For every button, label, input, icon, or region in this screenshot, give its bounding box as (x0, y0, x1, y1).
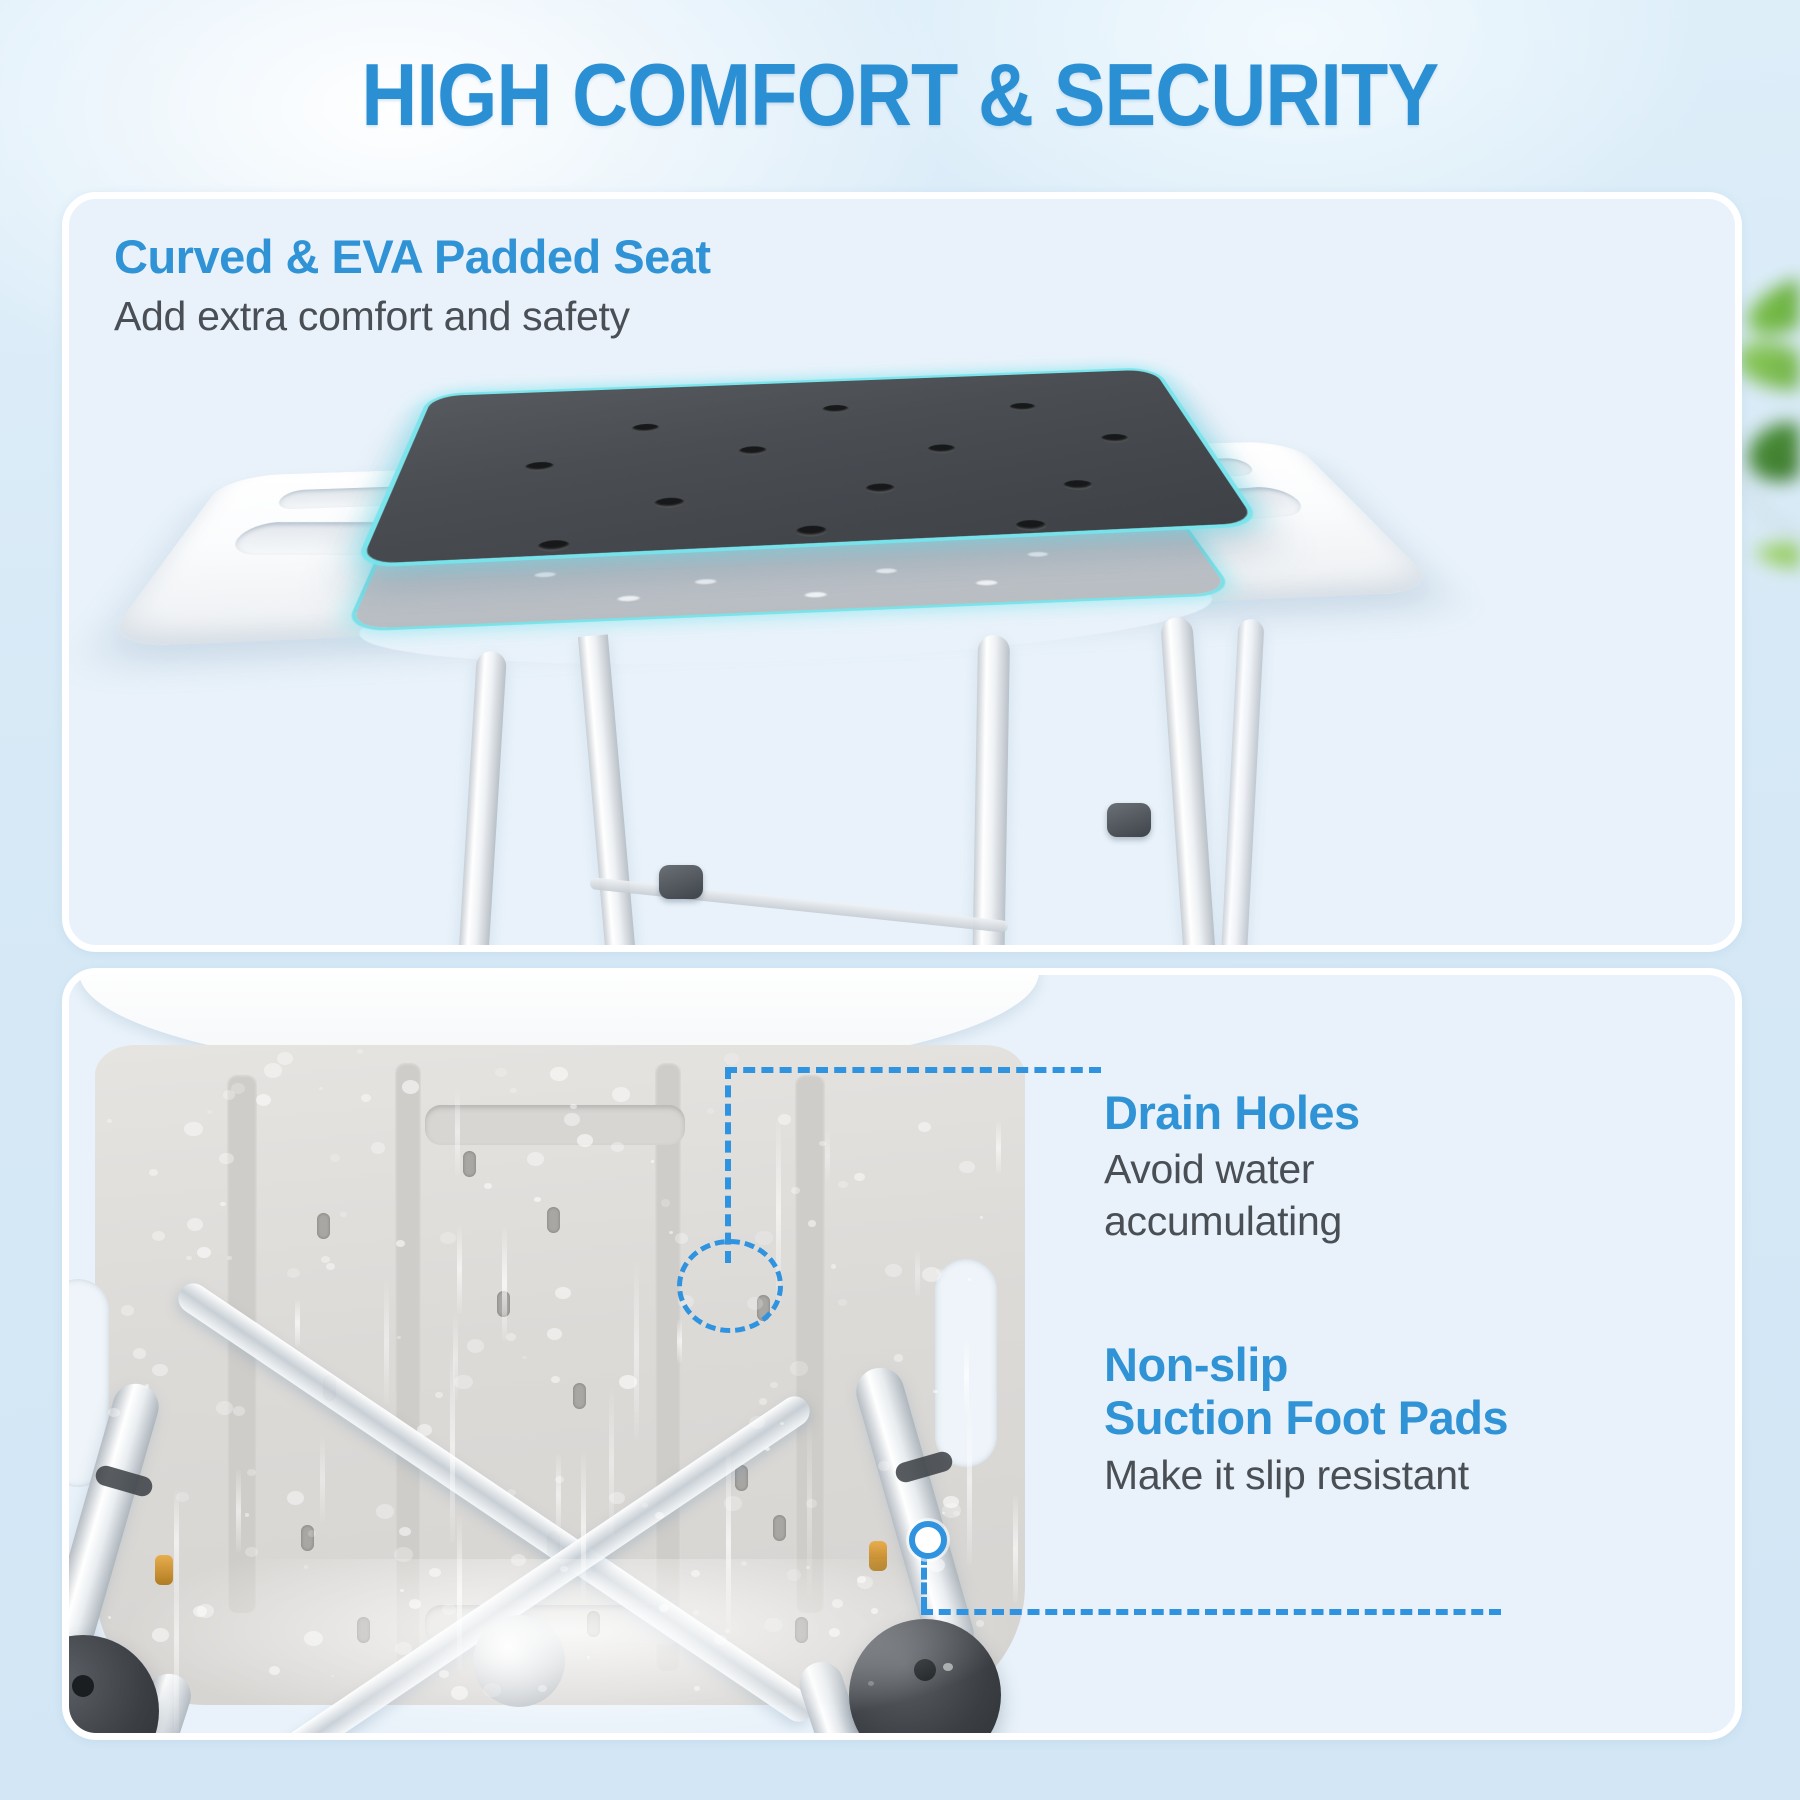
water-droplet (764, 1618, 782, 1633)
water-stream (455, 1088, 460, 1177)
water-droplet (642, 1503, 648, 1508)
water-droplet (484, 1183, 491, 1189)
water-droplet (145, 1384, 150, 1388)
water-droplet (551, 1376, 559, 1383)
foot-pad-callout-line (921, 1609, 1501, 1615)
water-droplet (570, 1104, 577, 1109)
water-droplet (326, 1263, 335, 1270)
seat-drain-hole (616, 595, 641, 602)
water-droplet (435, 1392, 442, 1398)
water-droplet (371, 1142, 385, 1153)
seat-drain-hole (874, 567, 899, 574)
water-droplet (611, 1142, 624, 1152)
water-droplet (220, 1202, 226, 1207)
eva-pad-drain-hole (796, 525, 828, 537)
underside-drain-hole (573, 1383, 586, 1409)
seat-drain-hole (694, 578, 718, 585)
infographic-root: HIGH COMFORT & SECURITY (0, 0, 1800, 1800)
eva-pad-drain-hole (822, 405, 849, 414)
water-droplet (394, 1547, 413, 1562)
water-stream (384, 1279, 389, 1404)
seat-drain-hole (974, 579, 1000, 586)
water-droplet (831, 1264, 836, 1268)
water-stream (996, 1121, 1001, 1174)
curved-seat-text-block: Curved & EVA Padded Seat Add extra comfo… (114, 231, 711, 339)
water-stream (295, 1299, 300, 1347)
water-stream (320, 1436, 325, 1522)
panel-curved-seat: Curved & EVA Padded Seat Add extra comfo… (62, 192, 1742, 952)
water-droplet (399, 1527, 411, 1536)
seat-drain-hole (1025, 551, 1050, 558)
water-droplet (207, 1110, 212, 1114)
chair-cross-bar (590, 877, 1009, 933)
water-stream (457, 1516, 462, 1670)
water-droplet (340, 1212, 347, 1217)
eva-pad-drain-hole (1008, 403, 1037, 412)
water-droplet (507, 1489, 516, 1496)
water-droplet (612, 1087, 631, 1102)
water-droplet (838, 1299, 847, 1306)
water-stream (556, 1453, 561, 1536)
water-droplet (749, 1416, 765, 1429)
water-droplet (184, 1122, 202, 1137)
height-adjust-clip (659, 865, 703, 899)
drain-holes-text-block: Drain Holes Avoid water accumulating (1104, 1087, 1360, 1245)
water-droplet (577, 1134, 593, 1147)
water-droplet (675, 1233, 689, 1244)
water-droplet (216, 1401, 233, 1415)
underside-drain-hole (463, 1151, 476, 1177)
water-droplet (741, 1561, 747, 1566)
water-droplet (451, 1686, 468, 1700)
water-droplet (121, 1305, 134, 1315)
water-droplet (361, 1094, 371, 1102)
underside-drain-hole (773, 1515, 786, 1541)
water-droplet (245, 1547, 258, 1557)
eva-pad-drain-hole (536, 540, 570, 553)
water-stream (967, 1397, 972, 1564)
water-droplet (321, 1256, 330, 1263)
water-droplet (976, 1620, 984, 1626)
water-droplet (400, 1589, 403, 1592)
water-droplet (287, 1491, 304, 1504)
water-droplet (759, 1398, 767, 1404)
water-droplet (724, 1053, 739, 1065)
eva-pad-drain-hole (927, 444, 957, 454)
chair-leg (972, 635, 1010, 952)
water-droplet (550, 1067, 567, 1081)
water-droplet (467, 1339, 484, 1352)
underside-slot (425, 1105, 685, 1145)
foot-pads-subtitle: Make it slip resistant (1104, 1452, 1508, 1499)
water-droplet (506, 1333, 516, 1341)
water-droplet (547, 1328, 562, 1340)
water-droplet (980, 1216, 984, 1219)
water-droplet (107, 1119, 112, 1123)
eva-pad-drain-hole (631, 423, 659, 432)
water-droplet (933, 1390, 938, 1394)
eva-pad-drain-hole (1062, 480, 1095, 491)
underside-product-image (62, 968, 1079, 1740)
water-droplet (510, 1088, 517, 1093)
water-droplet (928, 1558, 945, 1572)
foot-pads-heading-2: Suction Foot Pads (1104, 1392, 1508, 1445)
eva-pad-drain-hole (524, 461, 555, 471)
water-droplet (187, 1218, 203, 1231)
water-mist (119, 1559, 1019, 1739)
seat-drain-hole (533, 571, 558, 578)
eva-pad-drain-hole (1014, 519, 1048, 531)
water-droplet (787, 1569, 801, 1580)
water-droplet (233, 1406, 245, 1415)
curved-seat-heading: Curved & EVA Padded Seat (114, 231, 711, 284)
water-stream (502, 1226, 507, 1341)
water-droplet (564, 1113, 580, 1126)
water-droplet (857, 1576, 866, 1583)
header: HIGH COMFORT & SECURITY (0, 0, 1800, 190)
water-droplet (277, 1052, 293, 1065)
water-stream (677, 1319, 682, 1364)
water-droplet (439, 1670, 449, 1678)
underside-drain-hole (547, 1207, 560, 1233)
water-droplet (395, 1642, 412, 1656)
water-droplet (442, 1604, 456, 1615)
water-stream (609, 1387, 614, 1537)
water-droplet (918, 1122, 930, 1132)
panel-underside: Drain Holes Avoid water accumulating Non… (62, 968, 1742, 1740)
water-stream (915, 1249, 920, 1295)
water-droplet (669, 1231, 673, 1234)
drain-hole-highlight-circle (677, 1239, 783, 1333)
water-droplet (409, 1599, 421, 1609)
curved-seat-subtitle: Add extra comfort and safety (114, 293, 711, 340)
page-title: HIGH COMFORT & SECURITY (362, 44, 1439, 146)
water-droplet (483, 1683, 500, 1697)
foot-pad-callout-line (921, 1553, 927, 1609)
chair-leg (1160, 616, 1218, 952)
water-droplet (108, 1616, 111, 1618)
water-stream (581, 1452, 586, 1603)
water-droplet (655, 1512, 663, 1519)
height-adjust-clip (1107, 803, 1151, 837)
plant-decoration-icon (1738, 255, 1800, 895)
water-stream (457, 1224, 462, 1314)
water-droplet (396, 1240, 405, 1247)
water-droplet (894, 1354, 903, 1361)
seat-drain-hole (803, 591, 828, 598)
underside-drain-hole (301, 1525, 314, 1551)
water-droplet (838, 1181, 847, 1188)
water-stream (1013, 1495, 1018, 1603)
chair-leg (1219, 619, 1264, 952)
water-droplet (440, 1232, 456, 1244)
water-droplet (693, 1610, 699, 1615)
water-droplet (871, 1608, 878, 1613)
water-stream (634, 1261, 639, 1440)
water-stream (453, 1313, 458, 1403)
water-droplet (878, 1461, 890, 1471)
water-droplet (193, 1606, 207, 1617)
water-droplet (287, 1268, 299, 1278)
water-droplet (152, 1231, 165, 1242)
eva-pad-drain-hole (865, 483, 896, 494)
water-droplet (661, 1199, 670, 1206)
eva-pad-drain-hole (739, 446, 767, 456)
water-droplet (694, 1686, 700, 1691)
underside-drain-hole (735, 1465, 748, 1491)
eva-pad-drain-hole (1099, 434, 1131, 444)
water-droplet (429, 1568, 440, 1577)
water-droplet (868, 1681, 874, 1686)
water-droplet (304, 1631, 323, 1646)
drain-callout-line (725, 1067, 1101, 1073)
water-droplet (133, 1348, 147, 1359)
water-droplet (269, 1666, 280, 1675)
water-droplet (152, 1628, 169, 1642)
chair-leg (578, 634, 638, 952)
water-stream (807, 1419, 812, 1596)
drain-holes-heading: Drain Holes (1104, 1087, 1360, 1140)
water-droplet (186, 1256, 192, 1261)
water-stream (726, 1452, 731, 1634)
water-droplet (376, 1504, 394, 1519)
water-stream (825, 1128, 830, 1183)
water-droplet (707, 1108, 714, 1114)
water-droplet (538, 1685, 547, 1692)
drain-holes-subtitle-2: accumulating (1104, 1198, 1360, 1245)
water-droplet (522, 1356, 526, 1360)
water-stream (236, 1469, 241, 1552)
drain-holes-subtitle-1: Avoid water (1104, 1146, 1360, 1193)
water-droplet (527, 1152, 544, 1166)
foot-pads-heading-1: Non-slip (1104, 1339, 1508, 1392)
water-droplet (245, 1513, 249, 1516)
chair-leg (457, 650, 507, 952)
water-droplet (330, 1154, 340, 1162)
water-stream (174, 1540, 179, 1733)
underside-drain-hole (317, 1213, 330, 1239)
eva-pad-drain-hole (654, 497, 685, 508)
water-droplet (227, 1256, 231, 1260)
foot-pads-text-block: Non-slip Suction Foot Pads Make it slip … (1104, 1339, 1508, 1499)
foot-pad-callout-dot (909, 1521, 947, 1559)
drain-callout-line (725, 1067, 731, 1263)
water-droplet (808, 1220, 816, 1227)
